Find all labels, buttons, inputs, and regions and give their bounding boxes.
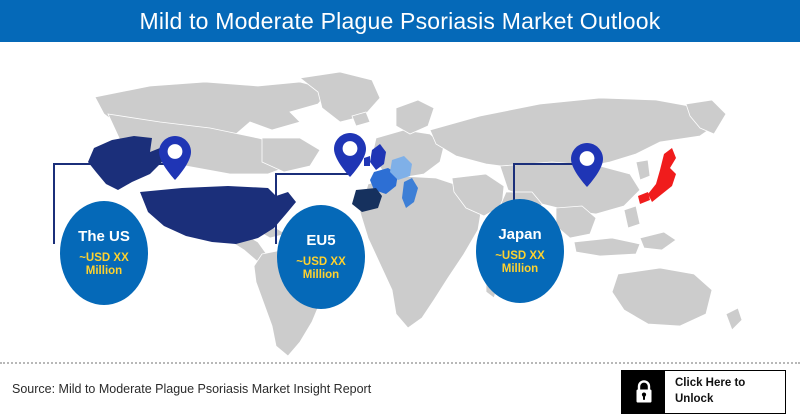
bubble-value-japan: ~USD XX Million <box>495 250 545 276</box>
bubble-value-eu5: ~USD XX Million <box>296 256 346 282</box>
unlock-label-line1: Click Here to <box>675 376 745 392</box>
marker-bubble-eu5[interactable]: EU5 ~USD XX Million <box>277 205 365 309</box>
lock-icon <box>622 371 665 413</box>
footer: Source: Mild to Moderate Plague Psoriasi… <box>0 364 800 420</box>
unlock-label-line2: Unlock <box>675 392 745 408</box>
map-stage: The US ~USD XX Million EU5 ~USD XX Milli… <box>0 42 800 362</box>
bubble-value-unit-japan: Million <box>495 263 545 276</box>
bubble-title-japan: Japan <box>498 226 541 243</box>
bubble-value-amount-eu5: ~USD XX <box>296 256 346 269</box>
unlock-label: Click Here to Unlock <box>665 371 785 413</box>
map-pin-us[interactable] <box>158 135 192 181</box>
map-pin-japan[interactable] <box>570 142 604 188</box>
source-text: Source: Mild to Moderate Plague Psoriasi… <box>12 382 371 396</box>
bubble-value-unit-us: Million <box>79 265 129 278</box>
page-title: Mild to Moderate Plague Psoriasis Market… <box>140 8 661 35</box>
bubble-value-unit-eu5: Million <box>296 269 346 282</box>
bubble-value-amount-us: ~USD XX <box>79 252 129 265</box>
bubble-title-eu5: EU5 <box>306 232 335 249</box>
region-japan-south <box>638 192 650 204</box>
bubble-value-us: ~USD XX Million <box>79 252 129 278</box>
infographic-page: Mild to Moderate Plague Psoriasis Market… <box>0 0 800 420</box>
marker-bubble-us[interactable]: The US ~USD XX Million <box>60 201 148 305</box>
bubble-value-amount-japan: ~USD XX <box>495 250 545 263</box>
header-bar: Mild to Moderate Plague Psoriasis Market… <box>0 0 800 42</box>
bubble-title-us: The US <box>78 228 130 245</box>
unlock-button[interactable]: Click Here to Unlock <box>621 370 786 414</box>
marker-bubble-japan[interactable]: Japan ~USD XX Million <box>476 199 564 303</box>
map-pin-eu5[interactable] <box>333 132 367 178</box>
region-japan <box>648 148 676 202</box>
